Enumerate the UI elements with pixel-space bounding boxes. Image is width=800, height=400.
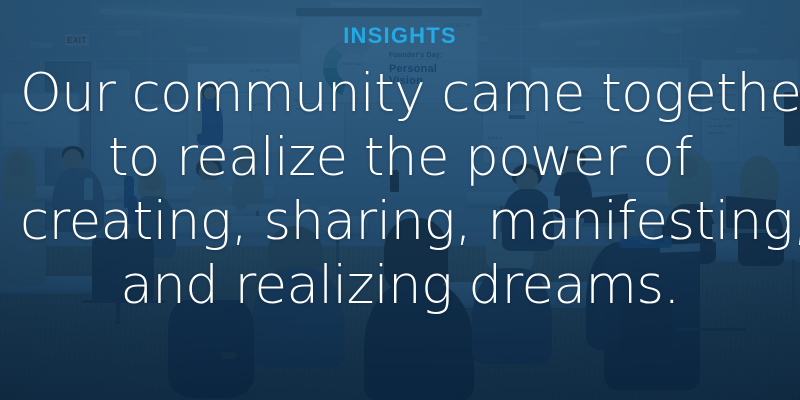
insights-quote-banner: EXIT notes notes PURPOSE VALUES whatmatt… [0,0,800,400]
headline: Our community came together to realize t… [20,62,780,318]
headline-line-1: Our community came together [20,62,780,126]
eyebrow-label: INSIGHTS [343,24,457,48]
headline-line-3: creating, sharing, manifesting, [20,190,780,254]
banner-content: INSIGHTS Our community came together to … [0,0,800,400]
headline-line-2: to realize the power of [20,126,780,190]
headline-line-4: and realizing dreams. [20,254,780,318]
